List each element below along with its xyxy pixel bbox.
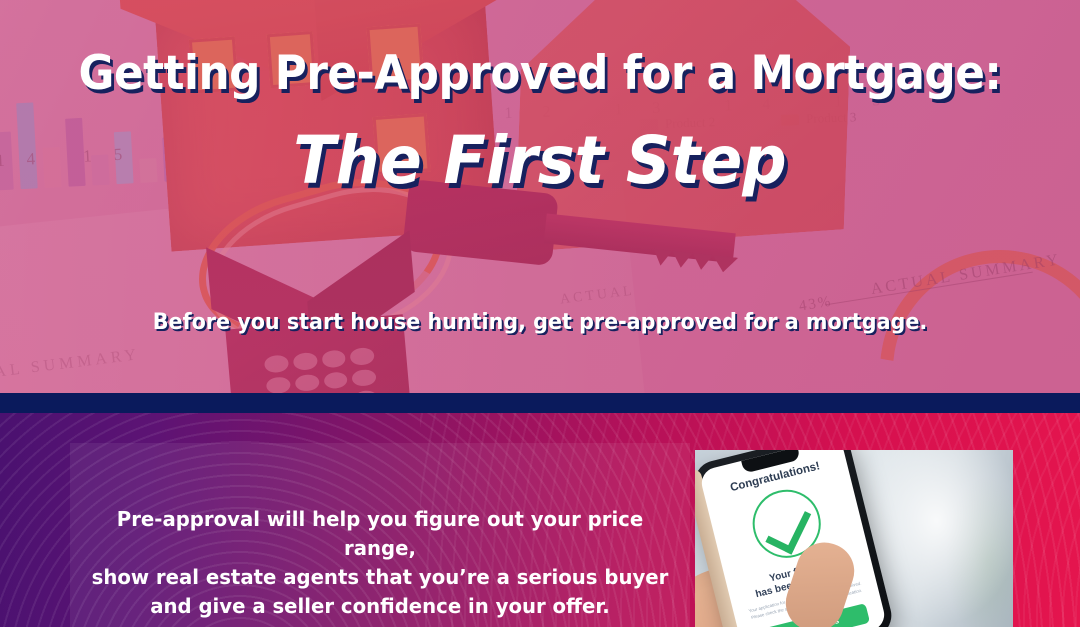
body-copy-line-3: and give a seller confidence in your off… [82, 592, 677, 621]
body-copy-line-1: Pre-approval will help you figure out yo… [82, 505, 677, 563]
body-copy-block: Pre-approval will help you figure out yo… [82, 505, 677, 621]
body-copy-line-2: show real estate agents that you’re a se… [82, 563, 677, 592]
navy-divider-bar [0, 393, 1080, 413]
hero-text-block: Getting Pre-Approved for a Mortgage: The… [0, 0, 1080, 393]
infographic-canvas: 14 15 16 11 12 13 14 15 Product 2 Produc… [0, 0, 1080, 627]
phone-photo-panel: Congratulations! Your finance has been a… [695, 450, 1013, 627]
page-title-line-1: Getting Pre-Approved for a Mortgage: [38, 50, 1042, 97]
hero-subtitle: Before you start house hunting, get pre-… [32, 310, 1047, 335]
hero-section: 14 15 16 11 12 13 14 15 Product 2 Produc… [0, 0, 1080, 393]
page-title-line-2: The First Step [32, 128, 1047, 194]
